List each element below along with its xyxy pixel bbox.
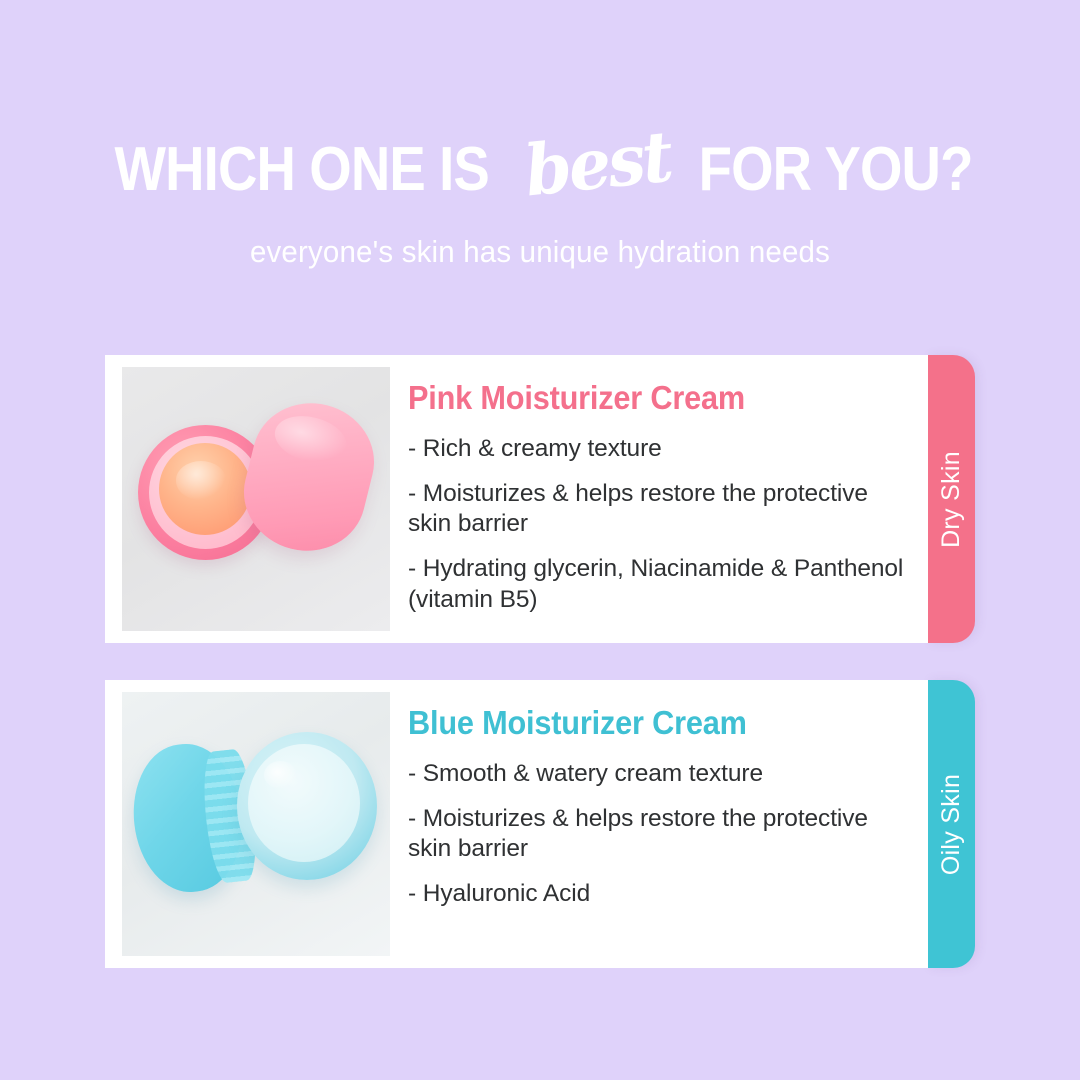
product-bullet: - Smooth & watery cream texture — [408, 759, 912, 790]
pink-jar-photo — [122, 367, 390, 631]
product-title: Pink Moisturizer Cream — [408, 381, 877, 416]
product-title: Blue Moisturizer Cream — [408, 706, 877, 741]
card-body: Pink Moisturizer Cream - Rich & creamy t… — [105, 355, 928, 643]
skin-type-tab-label: Oily Skin — [937, 773, 966, 874]
skin-type-tab-dry[interactable]: Dry Skin — [928, 355, 975, 643]
card-content: Pink Moisturizer Cream - Rich & creamy t… — [390, 367, 928, 616]
header: WHICH ONE IS best FOR YOU? everyone's sk… — [0, 0, 1080, 270]
blue-gel-icon — [248, 744, 360, 862]
blue-jar-photo — [122, 692, 390, 956]
skin-type-tab-oily[interactable]: Oily Skin — [928, 680, 975, 968]
product-bullet: - Hyaluronic Acid — [408, 879, 912, 910]
headline-pre: WHICH ONE IS — [115, 139, 489, 201]
product-bullet: - Moisturizes & helps restore the protec… — [408, 804, 912, 866]
product-card-pink[interactable]: Pink Moisturizer Cream - Rich & creamy t… — [105, 355, 975, 643]
headline-script-word: best — [515, 121, 678, 207]
page-title: WHICH ONE IS best FOR YOU? — [0, 130, 1080, 210]
card-body: Blue Moisturizer Cream - Smooth & watery… — [105, 680, 928, 968]
product-bullet: - Hydrating glycerin, Niacinamide & Pant… — [408, 554, 912, 616]
pink-cream-icon — [159, 443, 251, 535]
product-card-blue[interactable]: Blue Moisturizer Cream - Smooth & watery… — [105, 680, 975, 968]
headline-post: FOR YOU? — [698, 139, 972, 201]
product-bullet: - Rich & creamy texture — [408, 434, 912, 465]
page-subtitle: everyone's skin has unique hydration nee… — [27, 234, 1053, 270]
product-bullet: - Moisturizes & helps restore the protec… — [408, 479, 912, 541]
card-content: Blue Moisturizer Cream - Smooth & watery… — [390, 692, 928, 910]
skin-type-tab-label: Dry Skin — [937, 451, 966, 548]
